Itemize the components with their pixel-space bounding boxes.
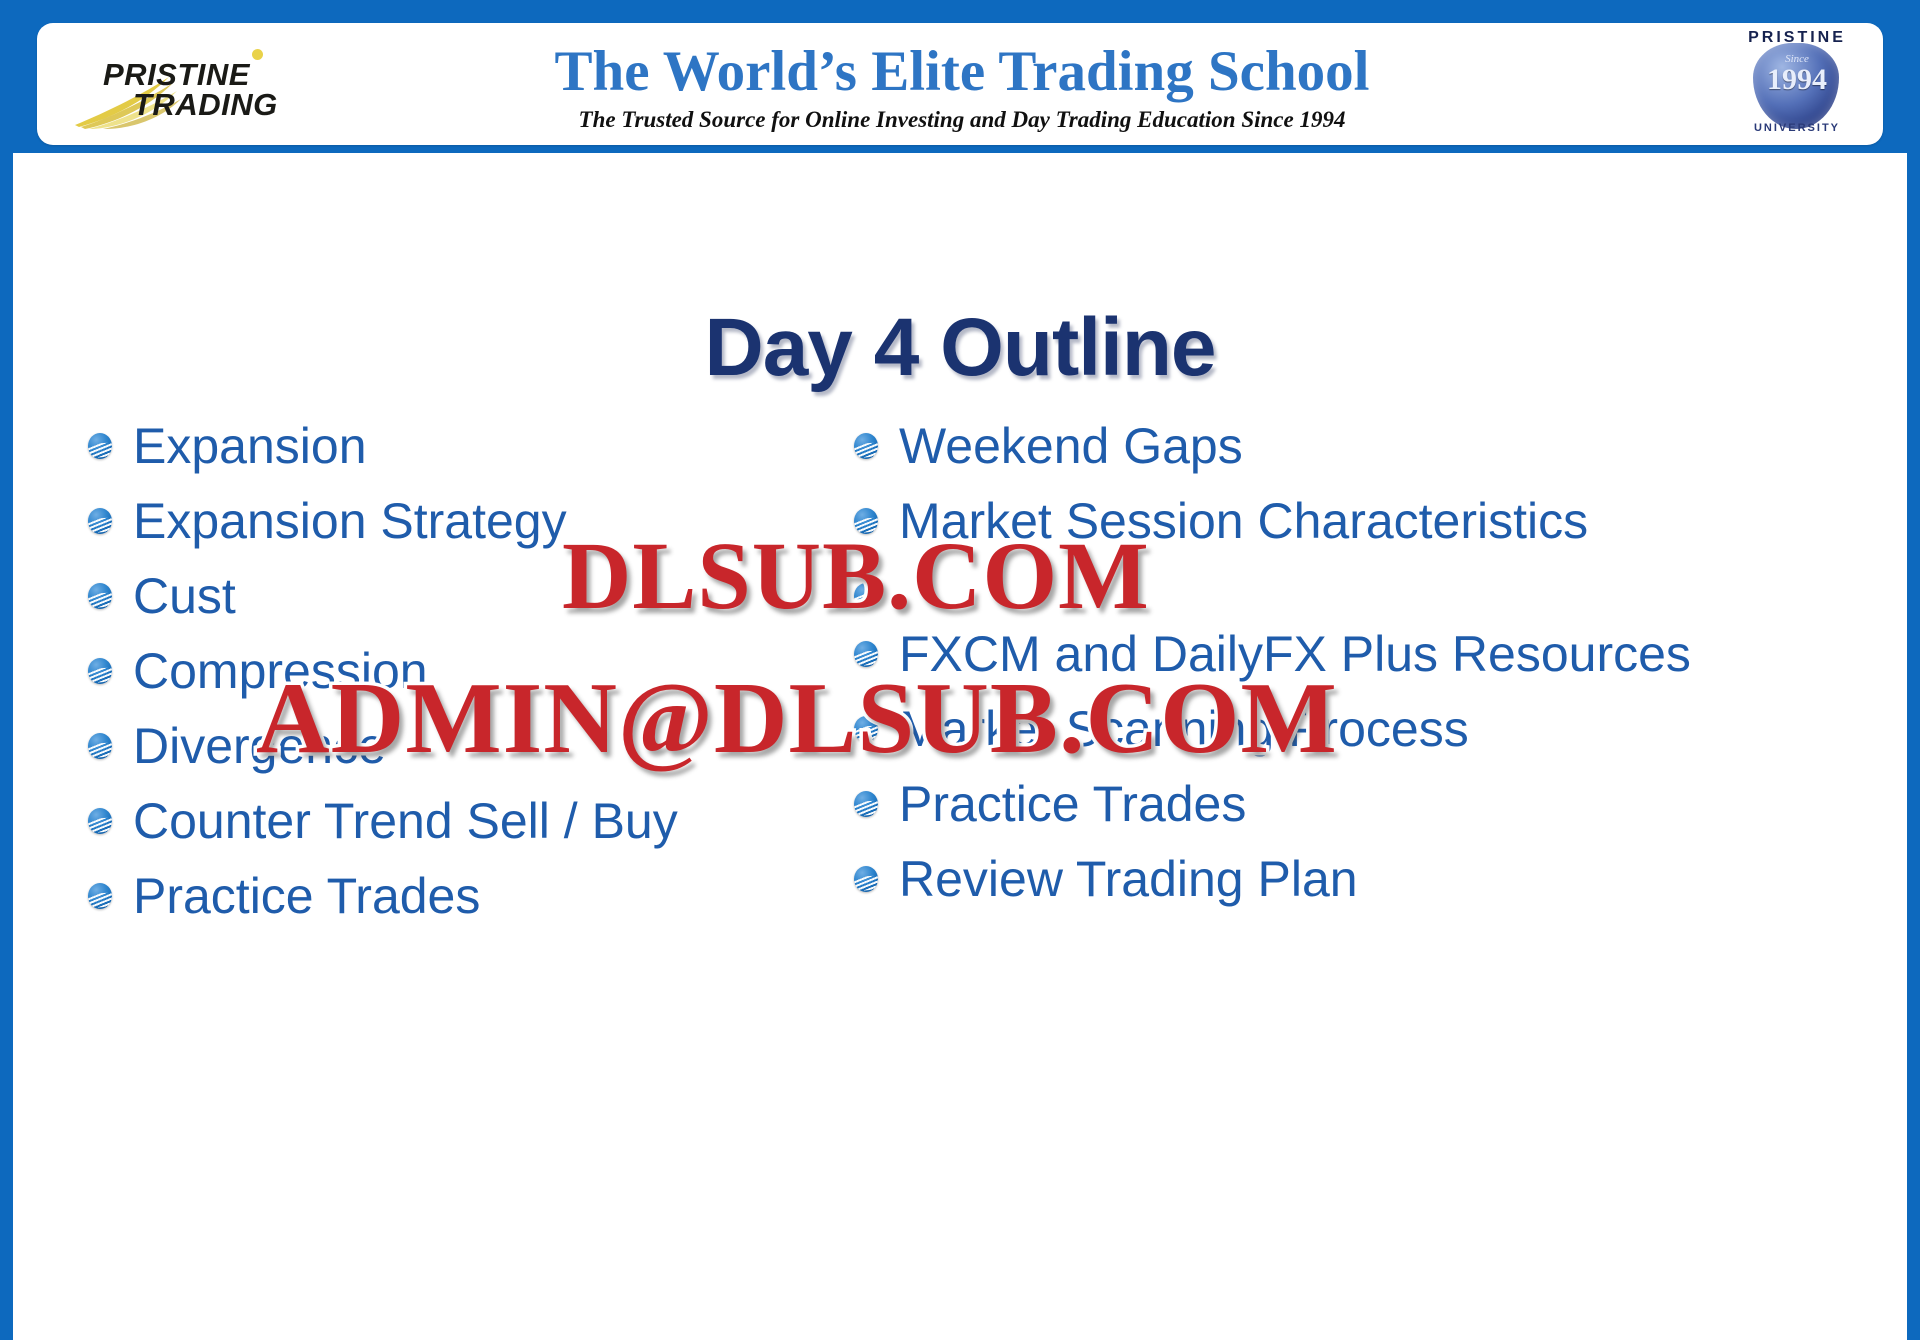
list-item-label: Market Scanning Process xyxy=(899,698,1469,761)
list-item-label: Cust xyxy=(133,565,236,628)
pristine-university-seal: PRISTINE Since 1994 UNIVERSITY xyxy=(1739,27,1855,143)
list-item: Review Trading Plan xyxy=(851,848,1907,911)
globe-bullet-icon xyxy=(85,581,115,611)
header-subtitle: The Trusted Source for Online Investing … xyxy=(337,107,1587,133)
seal-year-label: 1994 xyxy=(1739,63,1855,97)
globe-bullet-icon xyxy=(85,806,115,836)
list-item-label: Review Trading Plan xyxy=(899,848,1358,911)
list-item: Market Session Characteristics xyxy=(851,490,1907,553)
list-item-label: Divergence xyxy=(133,715,386,778)
frame-border-left xyxy=(0,0,13,1340)
list-item-label: Counter Trend Sell / Buy xyxy=(133,790,678,853)
list-item: Compression xyxy=(85,640,833,703)
list-item-label: Practice Trades xyxy=(899,773,1246,836)
globe-bullet-icon xyxy=(851,581,881,611)
frame-border-top xyxy=(0,0,1920,13)
list-item-label: FXCM and DailyFX Plus Resources xyxy=(899,623,1691,686)
page-title: Day 4 Outline xyxy=(13,301,1907,395)
globe-bullet-icon xyxy=(851,714,881,744)
globe-bullet-icon xyxy=(851,639,881,669)
list-item: Practice Trades xyxy=(851,773,1907,836)
list-item-label: Expansion xyxy=(133,415,367,478)
list-item xyxy=(851,565,1907,611)
globe-bullet-icon xyxy=(85,431,115,461)
globe-bullet-icon xyxy=(85,506,115,536)
list-item-label: Weekend Gaps xyxy=(899,415,1243,478)
seal-arc-bottom-label: UNIVERSITY xyxy=(1739,122,1855,134)
outline-left-column: Expansion Expansion Strategy Cust Compre… xyxy=(13,415,833,940)
list-item-label: Practice Trades xyxy=(133,865,480,928)
globe-bullet-icon xyxy=(851,864,881,894)
logo-dot xyxy=(252,49,263,60)
presentation-slide: PRISTINE TRADING The World’s Elite Tradi… xyxy=(0,0,1920,1340)
list-item: Expansion xyxy=(85,415,833,478)
header-inner-panel: PRISTINE TRADING The World’s Elite Tradi… xyxy=(37,23,1883,145)
seal-arc-top-label: PRISTINE xyxy=(1739,29,1855,47)
list-item: Expansion Strategy xyxy=(85,490,833,553)
list-item: FXCM and DailyFX Plus Resources xyxy=(851,623,1907,686)
globe-bullet-icon xyxy=(851,431,881,461)
logo-line1: PRISTINE xyxy=(103,59,250,90)
globe-bullet-icon xyxy=(85,731,115,761)
logo-line2: TRADING xyxy=(133,89,278,120)
list-item: Divergence xyxy=(85,715,833,778)
list-item: Market Scanning Process xyxy=(851,698,1907,761)
globe-bullet-icon xyxy=(851,789,881,819)
list-item: Counter Trend Sell / Buy xyxy=(85,790,833,853)
globe-bullet-icon xyxy=(85,656,115,686)
pristine-trading-logo: PRISTINE TRADING xyxy=(67,37,317,133)
list-item-label: Expansion Strategy xyxy=(133,490,567,553)
list-item-label: Market Session Characteristics xyxy=(899,490,1588,553)
list-item: Cust xyxy=(85,565,833,628)
outline-right-column: Weekend Gaps Market Session Characterist… xyxy=(833,415,1907,940)
header-band: PRISTINE TRADING The World’s Elite Tradi… xyxy=(13,13,1907,153)
frame-border-right xyxy=(1907,0,1920,1340)
outline-columns: Expansion Expansion Strategy Cust Compre… xyxy=(13,415,1907,940)
globe-bullet-icon xyxy=(85,881,115,911)
globe-bullet-icon xyxy=(851,506,881,536)
slide-content-area: Day 4 Outline Expansion Expansion Strate… xyxy=(13,153,1907,1340)
header-title: The World’s Elite Trading School xyxy=(337,43,1587,101)
list-item: Practice Trades xyxy=(85,865,833,928)
list-item-label: Compression xyxy=(133,640,428,703)
list-item: Weekend Gaps xyxy=(851,415,1907,478)
